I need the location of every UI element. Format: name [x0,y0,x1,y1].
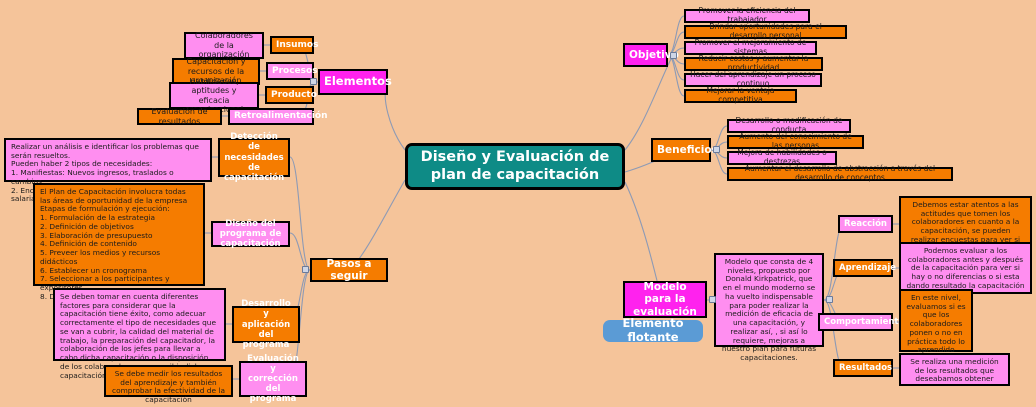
branch-pasos[interactable]: Pasos a seguir [310,258,388,282]
modelo-description-text: Modelo que consta de 4 niveles, propuest… [721,258,817,363]
modelo-level-resultados-detail[interactable]: Se realiza una medición de los resultado… [899,353,1010,386]
branch-elementos-label: Elementos [324,75,382,89]
modelo-level-resultados-label: Resultados [839,363,887,373]
paso-4-detail[interactable]: Se debe medir los resultados del aprendi… [104,365,233,397]
branch-modelo-label: Modelo para la evaluación [629,281,701,318]
elementos-child-insumos[interactable]: Insumos [270,36,314,54]
connector-dot-pasos [302,266,309,273]
paso-2-detail[interactable]: El Plan de Capacitación involucra todas … [33,183,205,286]
modelo-level-comportamiento-detail[interactable]: En este nivel, evaluamos si es que los c… [899,289,973,352]
floating-element[interactable]: Elemento flotante [603,320,703,342]
central-node[interactable]: Diseño y Evaluación de plan de capacitac… [405,143,625,190]
objetivo-item-0[interactable]: Promover la eficiencia del trabajador [684,9,810,23]
elementos-child-insumos-label: Insumos [276,40,308,51]
branch-objetivo-label: Objetivo [629,49,662,61]
beneficios-item-0[interactable]: Desarrollo o modificación de conducta [727,119,851,133]
elementos-child-retro-label: Retroalimentación [234,111,308,122]
elementos-detail-producto[interactable]: Habilidades, aptitudes y eficacia organi… [169,82,259,109]
connector-dot-modelo [709,296,716,303]
modelo-level-comportamiento-label: Comportamiento [824,317,887,327]
elementos-child-retro[interactable]: Retroalimentación [228,108,314,125]
paso-4-detail-text: Se debe medir los resultados del aprendi… [111,370,226,405]
paso-2-detail-text: El Plan de Capacitación involucra todas … [40,188,198,302]
modelo-level-resultados-text: Se realiza una medición de los resultado… [906,358,1003,384]
branch-objetivo[interactable]: Objetivo [623,43,668,67]
branch-modelo[interactable]: Modelo para la evaluación [623,281,707,318]
beneficios-item-3[interactable]: Aumentar el desarrollo de abstracción a … [727,167,953,181]
elementos-child-procesos-label: Procesos [272,66,308,77]
elementos-child-producto[interactable]: Producto [265,86,314,104]
central-node-label: Diseño y Evaluación de plan de capacitac… [412,149,618,183]
elementos-detail-insumos[interactable]: Colaboradores de la organización [184,32,264,59]
paso-4-label: Evaluación y corrección del programa [245,354,301,404]
paso-3-label: Desarrollo y aplicación del programa [238,299,294,349]
beneficios-item-2[interactable]: Mejora de habilidades o destrezas [727,151,837,165]
branch-beneficios[interactable]: Beneficios [651,138,711,162]
paso-1-detail[interactable]: Realizar un análisis e identificar los p… [4,138,212,182]
branch-beneficios-label: Beneficios [657,144,705,156]
paso-1-node[interactable]: Detección de necesidades de capacitación [218,138,290,177]
elementos-child-procesos[interactable]: Procesos [266,62,314,80]
modelo-level-aprendizaje-detail[interactable]: Podemos evaluar a los colaboradores ante… [899,242,1032,294]
branch-pasos-label: Pasos a seguir [316,258,382,283]
branch-elementos[interactable]: Elementos [318,69,388,95]
paso-3-node[interactable]: Desarrollo y aplicación del programa [232,306,300,343]
paso-2-node[interactable]: Diseño del programa de capacitación [211,221,290,247]
mindmap-canvas: Diseño y Evaluación de plan de capacitac… [0,0,1036,407]
elementos-detail-retro[interactable]: Evaluación de resultados [137,108,222,125]
modelo-level-resultados[interactable]: Resultados [833,359,893,377]
modelo-level-reaccion[interactable]: Reacción [838,215,893,233]
elementos-child-producto-label: Producto [271,90,308,101]
objetivo-item-5[interactable]: Mejorar la ventaja competitiva [684,89,797,103]
objetivo-item-5-label: Mejorar la ventaja competitiva [690,87,791,105]
modelo-level-aprendizaje-label: Aprendizaje [839,263,887,273]
elementos-detail-insumos-text: Colaboradores de la organización [190,31,258,59]
paso-3-detail[interactable]: Se deben tomar en cuenta diferentes fact… [53,288,226,361]
connector-dot-beneficios [713,146,720,153]
modelo-level-aprendizaje[interactable]: Aprendizaje [833,259,893,277]
modelo-level-reaccion-label: Reacción [844,219,887,229]
paso-2-label: Diseño del programa de capacitación [217,219,284,249]
elementos-detail-retro-text: Evaluación de resultados [143,107,216,126]
modelo-description[interactable]: Modelo que consta de 4 niveles, propuest… [714,253,824,347]
objetivo-item-2[interactable]: Promover el mejoramiento de sistemas [684,41,817,55]
paso-1-label: Detección de necesidades de capacitación [224,132,284,182]
modelo-level-aprendizaje-text: Podemos evaluar a los colaboradores ante… [906,247,1025,291]
beneficios-item-1[interactable]: Aumento del conocimiento de las personas [727,135,864,149]
modelo-level-comportamiento-text: En este nivel, evaluamos si es que los c… [906,294,966,355]
objetivo-item-1[interactable]: Brindar oportunidades para el desarrollo… [684,25,847,39]
connector-dot-objetivo [670,52,677,59]
beneficios-item-3-label: Aumentar el desarrollo de abstracción a … [733,165,947,183]
connector-dot-elementos [310,78,317,85]
floating-element-label: Elemento flotante [607,317,699,344]
objetivo-item-3[interactable]: Reducir costos y aumentar la productivid… [684,57,823,71]
connector-dot-modelo-desc [826,296,833,303]
modelo-level-comportamiento[interactable]: Comportamiento [818,313,893,331]
objetivo-item-4[interactable]: Hacer del aprendizaje un proceso continu… [684,73,822,87]
paso-4-node[interactable]: Evaluación y corrección del programa [239,361,307,397]
